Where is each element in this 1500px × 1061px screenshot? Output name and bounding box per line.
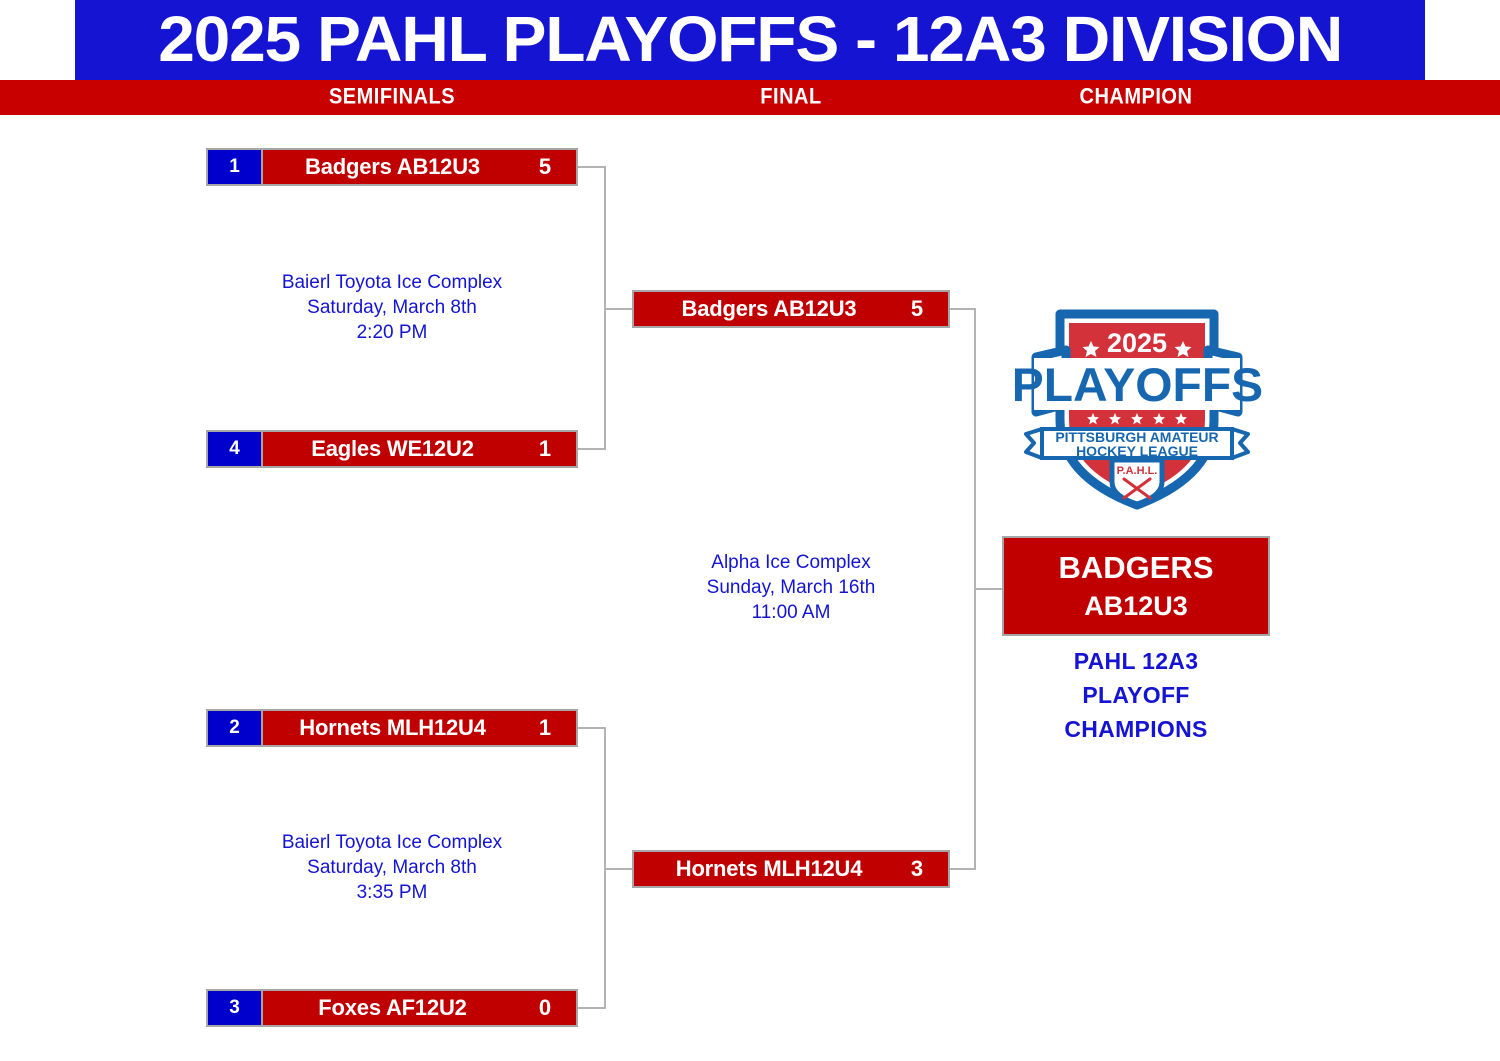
- team-row: Badgers AB12U3 5: [634, 292, 948, 326]
- connector-sf1-out: [604, 308, 634, 310]
- game-venue: Baierl Toyota Ice Complex: [206, 830, 578, 855]
- matchup-slot-final-top[interactable]: Badgers AB12U3 5: [632, 290, 950, 328]
- game-date: Saturday, March 8th: [206, 855, 578, 880]
- pahl-playoffs-logo-svg: 2025 PLAYOFFS PITTSBURGH AMATEUR HOCKEY …: [1012, 300, 1262, 515]
- game-date: Saturday, March 8th: [206, 295, 578, 320]
- seed-badge: 2: [208, 711, 263, 745]
- connector-sf1-top: [578, 166, 606, 168]
- round-label-semifinals: SEMIFINALS: [206, 80, 578, 115]
- team-score: 5: [514, 154, 576, 180]
- champion-team-code: AB12U3: [1084, 588, 1188, 624]
- game-info-sf2: Baierl Toyota Ice Complex Saturday, Marc…: [206, 830, 578, 905]
- pahl-playoffs-logo: 2025 PLAYOFFS PITTSBURGH AMATEUR HOCKEY …: [1012, 300, 1262, 515]
- bracket-page: 2025 PAHL PLAYOFFS - 12A3 DIVISION SEMIF…: [0, 0, 1500, 1061]
- champion-caption-line3: CHAMPIONS: [1002, 712, 1270, 746]
- matchup-slot-final-bottom[interactable]: Hornets MLH12U4 3: [632, 850, 950, 888]
- champion-caption: PAHL 12A3 PLAYOFF CHAMPIONS: [1002, 644, 1270, 746]
- round-label-champion-text: CHAMPION: [1080, 85, 1193, 111]
- page-title: 2025 PAHL PLAYOFFS - 12A3 DIVISION: [158, 3, 1342, 76]
- connector-sf2-out: [604, 868, 634, 870]
- round-label-champion: CHAMPION: [1002, 80, 1270, 115]
- connector-sf1-bottom: [578, 448, 606, 450]
- team-score: 3: [886, 856, 948, 882]
- connector-sf2-top: [578, 727, 606, 729]
- team-score: 1: [514, 436, 576, 462]
- champion-box[interactable]: BADGERS AB12U3: [1002, 536, 1270, 636]
- team-name: Badgers AB12U3: [634, 296, 886, 322]
- team-score: 0: [514, 995, 576, 1021]
- seed-badge: 1: [208, 150, 263, 184]
- matchup-slot-sf2-bottom[interactable]: 3 Foxes AF12U2 0: [206, 989, 578, 1027]
- team-row: Badgers AB12U3 5: [263, 150, 576, 184]
- champion-caption-line1: PAHL 12A3: [1002, 644, 1270, 678]
- logo-wordmark: PLAYOFFS: [1012, 359, 1262, 411]
- game-date: Sunday, March 16th: [600, 575, 982, 600]
- matchup-slot-sf2-top[interactable]: 2 Hornets MLH12U4 1: [206, 709, 578, 747]
- team-row: Hornets MLH12U4 3: [634, 852, 948, 886]
- game-info-sf1: Baierl Toyota Ice Complex Saturday, Marc…: [206, 270, 578, 345]
- round-label-final-text: FINAL: [760, 85, 821, 111]
- seed-badge: 4: [208, 432, 263, 466]
- logo-year: 2025: [1107, 328, 1167, 358]
- connector-final-top: [950, 308, 976, 310]
- logo-banner-line2: HOCKEY LEAGUE: [1076, 443, 1198, 459]
- connector-sf2-bottom: [578, 1007, 606, 1009]
- team-name: Eagles WE12U2: [263, 436, 514, 462]
- game-venue: Baierl Toyota Ice Complex: [206, 270, 578, 295]
- team-row: Eagles WE12U2 1: [263, 432, 576, 466]
- logo-crest-text: P.A.H.L.: [1117, 465, 1158, 477]
- matchup-slot-sf1-top[interactable]: 1 Badgers AB12U3 5: [206, 148, 578, 186]
- round-label-final: FINAL: [632, 80, 950, 115]
- round-label-semifinals-text: SEMIFINALS: [329, 85, 455, 111]
- champion-caption-line2: PLAYOFF: [1002, 678, 1270, 712]
- seed-badge: 3: [208, 991, 263, 1025]
- title-bar: 2025 PAHL PLAYOFFS - 12A3 DIVISION: [75, 0, 1425, 80]
- game-time: 2:20 PM: [206, 320, 578, 345]
- game-venue: Alpha Ice Complex: [600, 550, 982, 575]
- matchup-slot-sf1-bottom[interactable]: 4 Eagles WE12U2 1: [206, 430, 578, 468]
- team-name: Foxes AF12U2: [263, 995, 514, 1021]
- champion-name: BADGERS: [1058, 548, 1213, 588]
- team-row: Foxes AF12U2 0: [263, 991, 576, 1025]
- team-name: Hornets MLH12U4: [263, 715, 514, 741]
- team-score: 5: [886, 296, 948, 322]
- team-name: Hornets MLH12U4: [634, 856, 886, 882]
- game-time: 11:00 AM: [600, 600, 982, 625]
- game-time: 3:35 PM: [206, 880, 578, 905]
- team-score: 1: [514, 715, 576, 741]
- team-row: Hornets MLH12U4 1: [263, 711, 576, 745]
- game-info-final: Alpha Ice Complex Sunday, March 16th 11:…: [600, 550, 982, 625]
- connector-final-bottom: [950, 868, 976, 870]
- team-name: Badgers AB12U3: [263, 154, 514, 180]
